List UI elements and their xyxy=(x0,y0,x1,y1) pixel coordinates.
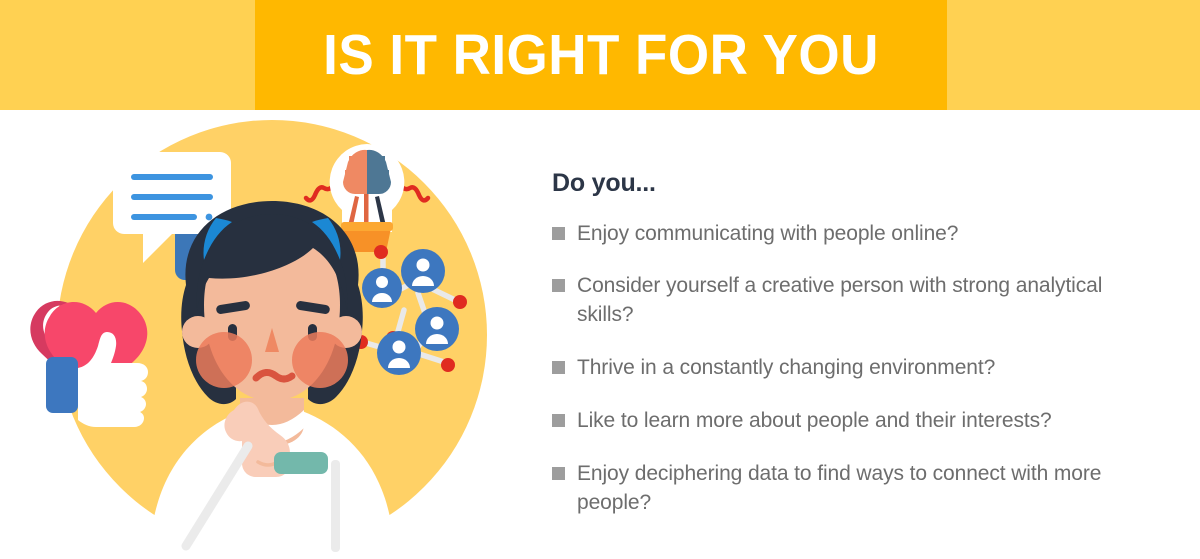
questions-list: Enjoy communicating with people online? … xyxy=(552,220,1152,519)
thinking-woman-illustration xyxy=(0,110,540,559)
list-item: Enjoy communicating with people online? xyxy=(552,220,1152,249)
questions-heading: Do you... xyxy=(552,170,1152,198)
question-text: Thrive in a constantly changing environm… xyxy=(577,354,995,383)
blush xyxy=(292,332,348,388)
bullet-square-icon xyxy=(552,227,565,240)
question-text: Enjoy communicating with people online? xyxy=(577,220,958,249)
avatar-node xyxy=(362,268,402,308)
question-text: Enjoy deciphering data to find ways to c… xyxy=(577,460,1137,518)
bullet-square-icon xyxy=(552,414,565,427)
blush xyxy=(196,332,252,388)
name-badge xyxy=(274,452,328,474)
page-title: IS IT RIGHT FOR YOU xyxy=(279,0,923,110)
list-item: Enjoy deciphering data to find ways to c… xyxy=(552,460,1152,518)
shirt-placket xyxy=(331,460,340,552)
avatar-node xyxy=(377,331,421,375)
list-item: Like to learn more about people and thei… xyxy=(552,407,1152,436)
bullet-square-icon xyxy=(552,279,565,292)
bullet-square-icon xyxy=(552,467,565,480)
avatar-node xyxy=(401,249,445,293)
bullet-square-icon xyxy=(552,361,565,374)
question-text: Consider yourself a creative person with… xyxy=(577,272,1137,330)
list-item: Consider yourself a creative person with… xyxy=(552,272,1152,330)
questions-panel: Do you... Enjoy communicating with peopl… xyxy=(552,170,1152,518)
heart-thumbs-up-icon xyxy=(30,301,148,427)
avatar-node xyxy=(415,307,459,351)
list-item: Thrive in a constantly changing environm… xyxy=(552,354,1152,383)
infographic-page: IS IT RIGHT FOR YOU xyxy=(0,0,1200,559)
question-text: Like to learn more about people and thei… xyxy=(577,407,1052,436)
